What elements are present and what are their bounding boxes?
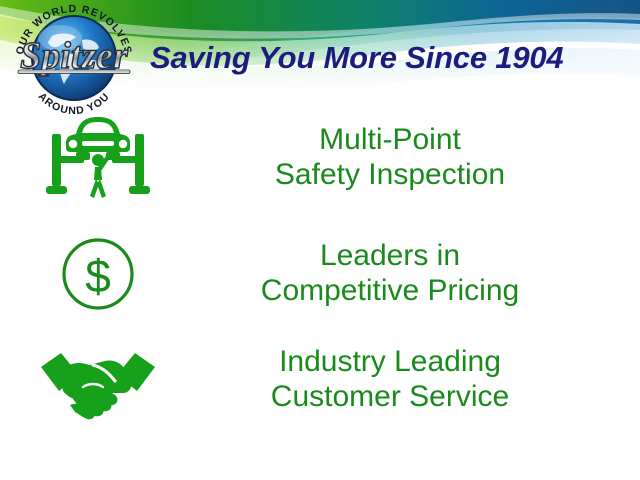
feature-line-2: Safety Inspection — [188, 158, 592, 193]
feature-line-2: Customer Service — [188, 380, 592, 415]
svg-text:$: $ — [85, 250, 111, 302]
handshake-icon — [8, 337, 188, 423]
car-lift-icon — [8, 112, 188, 204]
promo-slide: OUR WORLD REVOLVES AROUND YOU Spitzer Sa… — [0, 0, 640, 480]
page-title: Saving You More Since 1904 — [150, 40, 636, 76]
feature-row-safety-inspection: Multi-Point Safety Inspection — [8, 108, 608, 208]
feature-text-customer-service: Industry Leading Customer Service — [188, 345, 608, 415]
feature-text-safety-inspection: Multi-Point Safety Inspection — [188, 123, 608, 193]
spitzer-logo: OUR WORLD REVOLVES AROUND YOU Spitzer — [4, 2, 144, 114]
feature-line-1: Industry Leading — [188, 345, 592, 380]
feature-line-1: Multi-Point — [188, 123, 592, 158]
feature-row-customer-service: Industry Leading Customer Service — [8, 330, 608, 430]
feature-row-competitive-pricing: $ Leaders in Competitive Pricing — [8, 226, 608, 322]
feature-line-1: Leaders in — [188, 239, 592, 274]
feature-text-competitive-pricing: Leaders in Competitive Pricing — [188, 239, 608, 309]
feature-line-2: Competitive Pricing — [188, 274, 592, 309]
dollar-circle-icon: $ — [8, 235, 188, 313]
